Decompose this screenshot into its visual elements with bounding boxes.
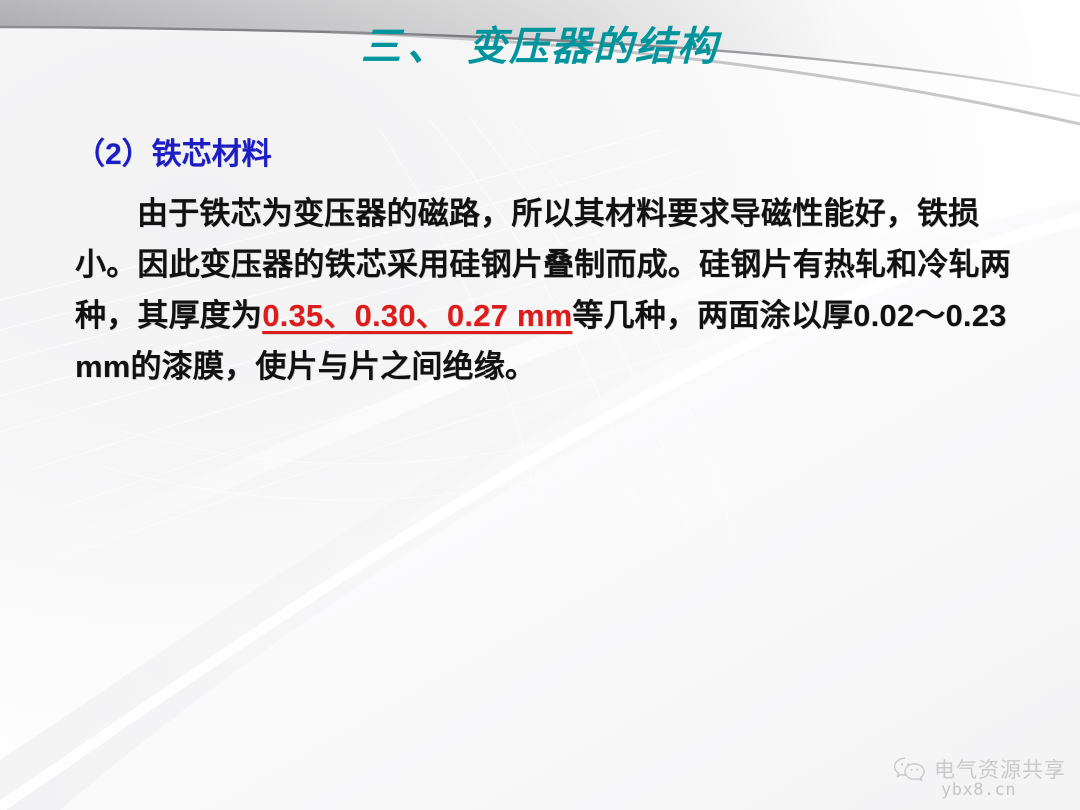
watermark-url: ybx8.cn [941,780,1016,800]
page-title: 三、变压器的结构 [0,14,1080,72]
body-paragraph: 由于铁芯为变压器的磁路，所以其材料要求导磁性能好，铁损小。因此变压器的铁芯采用硅… [75,188,1015,392]
slide-canvas: 三、变压器的结构 （2）铁芯材料 由于铁芯为变压器的磁路，所以其材料要求导磁性能… [0,0,1080,810]
page-title-number: 三、 [361,25,453,69]
slide-content: （2）铁芯材料 由于铁芯为变压器的磁路，所以其材料要求导磁性能好，铁损小。因此变… [75,136,1015,392]
highlighted-thickness-values: 0.35、0.30、0.27 mm [262,298,572,333]
wechat-icon [893,755,927,783]
section-heading: （2）铁芯材料 [75,136,1015,174]
page-title-text: 变压器的结构 [467,25,719,69]
watermark: 电气资源共享 ybx8.cn [893,754,1066,800]
